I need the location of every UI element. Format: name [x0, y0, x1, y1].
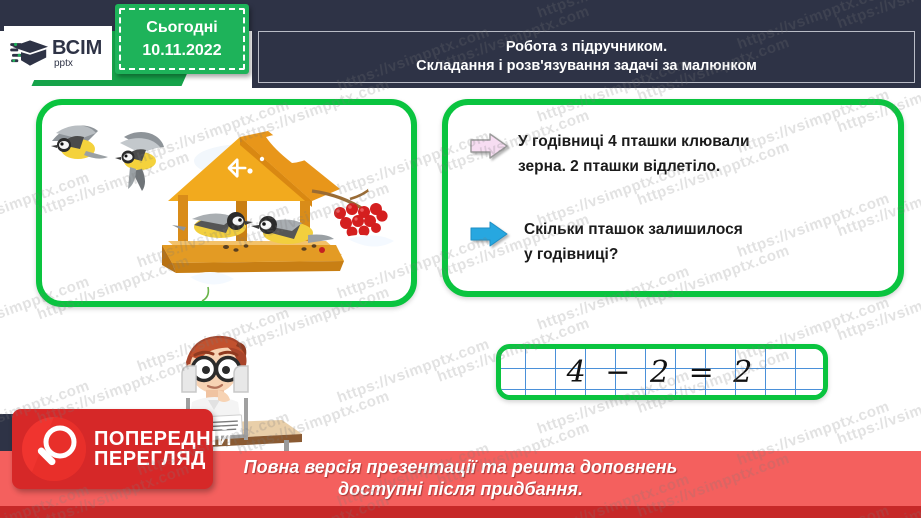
brand-logo-text: ВСІМ pptx: [52, 38, 102, 69]
snowflake-icon-2: [233, 121, 247, 136]
task-question-line-2: у годівниці?: [524, 242, 743, 267]
slide-canvas: Робота з підручником. Складання і розв'я…: [0, 0, 921, 518]
task-statement-text: У годівниці 4 пташки клювали зерна. 2 пт…: [518, 129, 750, 179]
preview-badge-text: ПОПЕРЕДНІЙ ПЕРЕГЛЯД: [94, 429, 232, 470]
date-badge-label: Сьогодні: [146, 19, 217, 37]
task-statement-row: У годівниці 4 пташки клювали зерна. 2 пт…: [470, 129, 890, 179]
task-statement-line-1: У годівниці 4 пташки клювали: [518, 129, 750, 154]
date-badge: Сьогодні 10.11.2022: [115, 4, 249, 74]
flying-bird-1: [51, 126, 108, 160]
preview-badge-line-1: ПОПЕРЕДНІЙ: [94, 429, 232, 449]
preview-banner-line-2: доступні після придбання.: [338, 479, 583, 500]
perched-bird-2: [251, 216, 334, 244]
equation-expression: 4 − 2 = 2: [501, 349, 823, 395]
page-title: Робота з підручником. Складання і розв'я…: [258, 31, 915, 83]
preview-badge-line-2: ПЕРЕГЛЯД: [94, 449, 232, 469]
task-question-line-1: Скільки пташок залишилося: [524, 217, 743, 242]
preview-banner-line-1: Повна версія презентації та решта доповн…: [244, 457, 678, 478]
bird-feeder-illustration: [50, 115, 405, 303]
page-title-line-2: Складання і розв'язування задачі за малю…: [416, 57, 757, 76]
preview-banner-strip: [0, 506, 921, 518]
magnifier-icon: [20, 415, 88, 483]
date-badge-value: 10.11.2022: [142, 42, 221, 60]
task-text-panel: У годівниці 4 пташки клювали зерна. 2 пт…: [442, 99, 904, 297]
page-title-line-1: Робота з підручником.: [506, 38, 667, 57]
preview-badge[interactable]: ПОПЕРЕДНІЙ ПЕРЕГЛЯД: [12, 409, 213, 489]
equation-panel: 4 − 2 = 2: [496, 344, 828, 400]
task-statement-line-2: зерна. 2 пташки відлетіло.: [518, 154, 750, 179]
arrow-right-icon-blue: [470, 221, 508, 247]
brand-logo: ВСІМ pptx: [4, 26, 112, 80]
flying-bird-2: [115, 132, 164, 191]
brand-suffix: pptx: [54, 59, 102, 69]
arrow-right-icon-pink: [470, 133, 508, 159]
brand-name: ВСІМ: [52, 38, 102, 58]
task-question-row: Скільки пташок залишилося у годівниці?: [470, 217, 890, 267]
rowan-berries: [334, 203, 388, 237]
illustration-panel: [36, 99, 417, 307]
task-question-text: Скільки пташок залишилося у годівниці?: [524, 217, 743, 267]
graduation-cap-icon: [10, 35, 50, 71]
